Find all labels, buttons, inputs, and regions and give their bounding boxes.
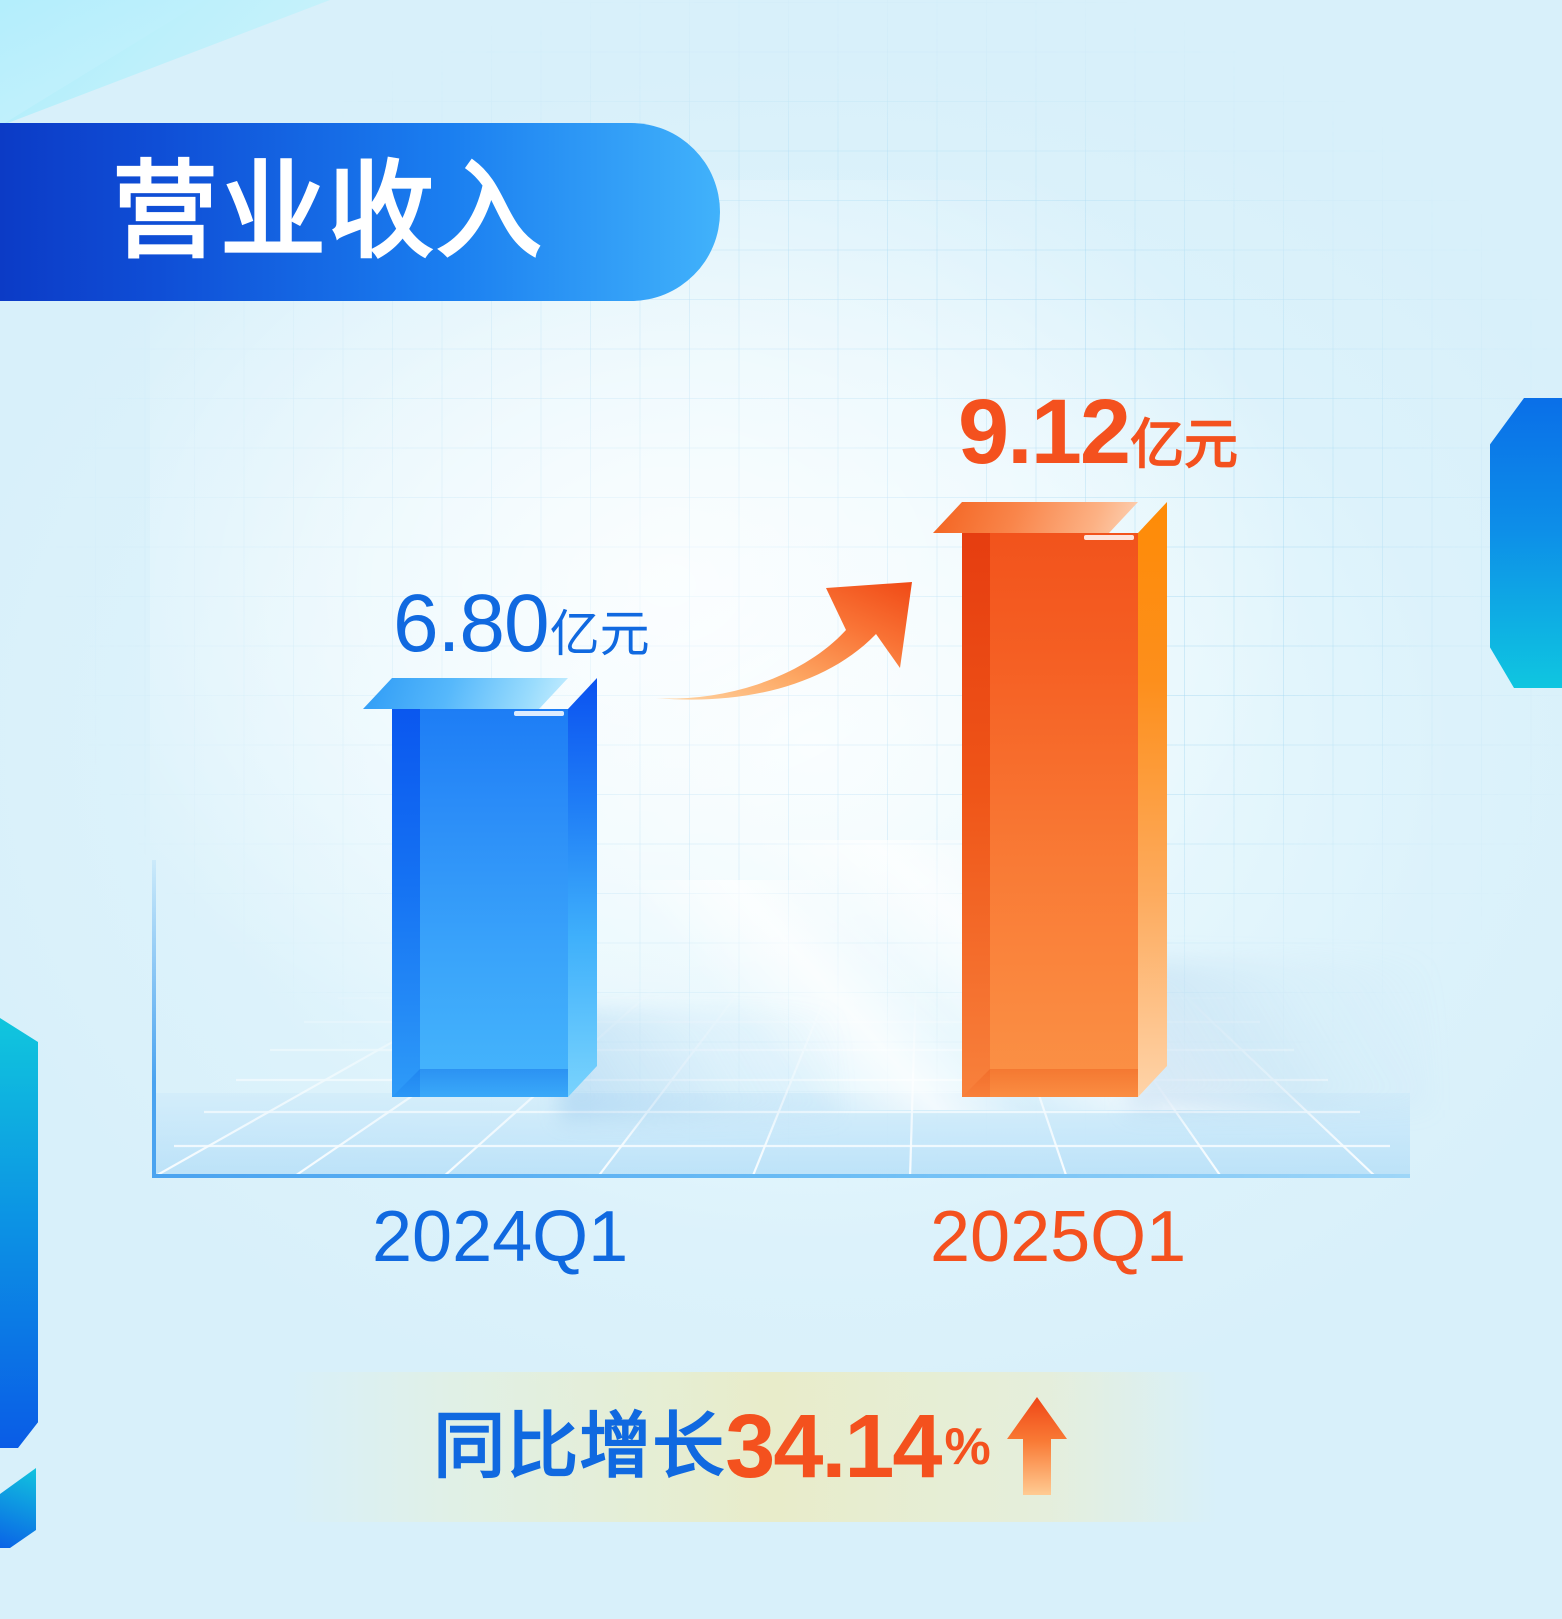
growth-banner: 同比增长 34.14 % <box>284 1372 1218 1522</box>
bar-2025q1-left-edge <box>962 533 990 1097</box>
edge-accent-right <box>1490 398 1562 688</box>
bar-2024q1-left-edge <box>392 709 420 1097</box>
growth-up-arrow-icon <box>1005 1395 1069 1499</box>
growth-percent-sign: % <box>945 1421 991 1473</box>
growth-prefix-label: 同比增长 <box>433 1411 725 1483</box>
bar-2024q1-bottom-shade <box>392 1069 568 1097</box>
infographic-canvas: 营业收入 <box>0 0 1562 1619</box>
page-title: 营业收入 <box>112 159 544 265</box>
value-unit-2025q1: 亿元 <box>1130 415 1238 475</box>
bar-2024q1-top-highlight <box>514 711 564 716</box>
value-label-2024q1: 6.80亿元 <box>393 583 650 665</box>
axis-line-left <box>152 860 156 1178</box>
bar-2024q1 <box>392 709 568 1097</box>
value-number-2025q1: 9.12 <box>958 381 1129 483</box>
bar-shadow-2025 <box>1130 960 1430 1110</box>
bar-2025q1 <box>962 533 1138 1097</box>
growth-row: 同比增长 34.14 % <box>433 1395 1069 1499</box>
bar-2024q1-top-face <box>363 678 568 709</box>
growth-arrow-svg <box>650 552 930 712</box>
growth-number: 34.14 <box>725 1402 940 1492</box>
bar-shadow-2024 <box>560 1010 840 1120</box>
bar-2025q1-top-highlight <box>1084 535 1134 540</box>
bar-2025q1-top-face <box>933 502 1138 533</box>
value-unit-2024q1: 亿元 <box>550 606 650 662</box>
up-arrow-svg <box>1005 1395 1069 1499</box>
axis-line-bottom <box>152 1174 1410 1178</box>
value-label-2025q1: 9.12亿元 <box>958 386 1238 478</box>
edge-accent-left <box>0 1018 38 1448</box>
title-banner: 营业收入 <box>0 123 720 301</box>
growth-curve-arrow-icon <box>650 552 930 712</box>
category-label-2025q1: 2025Q1 <box>930 1201 1186 1273</box>
category-label-2024q1: 2024Q1 <box>372 1201 628 1273</box>
bar-2024q1-side-face <box>568 678 597 1097</box>
bar-2025q1-bottom-shade <box>962 1069 1138 1097</box>
bar-2025q1-side-face <box>1138 502 1167 1097</box>
value-number-2024q1: 6.80 <box>393 578 549 669</box>
